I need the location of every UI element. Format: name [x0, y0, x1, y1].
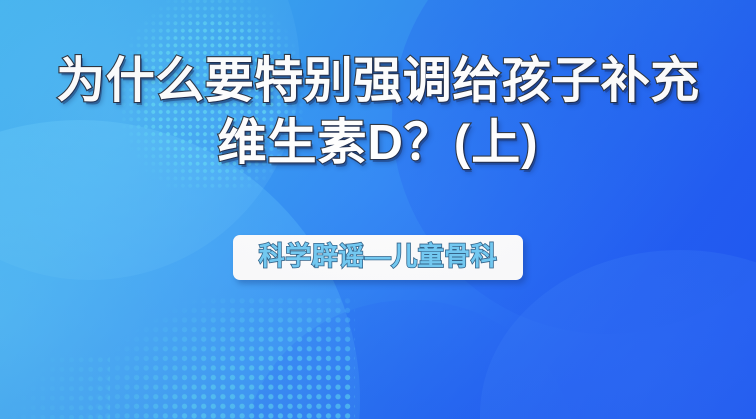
halftone-dots-left-edge [0, 355, 110, 419]
decorative-circle-bottom-middle [245, 300, 575, 419]
subtitle-badge-container: 科学辟谣—儿童骨科 [0, 235, 756, 280]
title-line-2: 维生素D？(上) [0, 112, 756, 174]
video-thumbnail-poster: 为什么要特别强调给孩子补充 维生素D？(上) 科学辟谣—儿童骨科 [0, 0, 756, 419]
series-badge-label: 科学辟谣—儿童骨科 [259, 241, 498, 272]
title-line-1: 为什么要特别强调给孩子补充 [0, 50, 756, 112]
poster-title: 为什么要特别强调给孩子补充 维生素D？(上) [0, 50, 756, 174]
halftone-dots-bottom [55, 296, 355, 419]
series-badge: 科学辟谣—儿童骨科 [233, 235, 524, 280]
